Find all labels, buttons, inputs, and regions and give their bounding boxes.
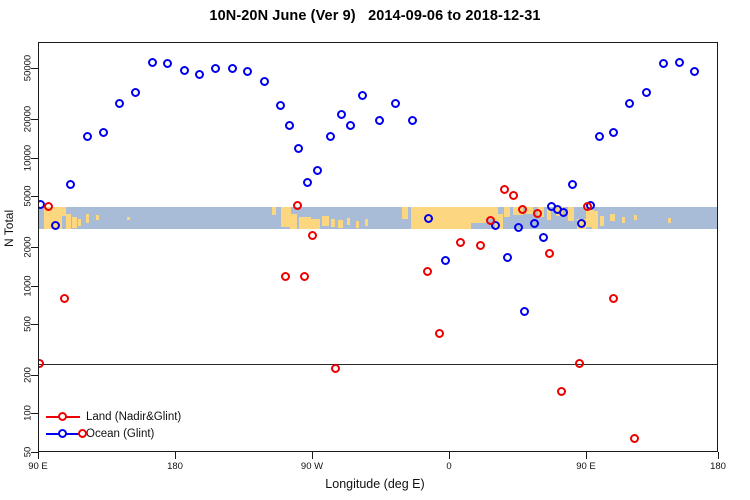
reference-line [39, 364, 718, 365]
y-tick-label: 100 [23, 406, 34, 422]
data-point [500, 185, 509, 194]
landmass-shape [402, 207, 408, 219]
landmass-shape [96, 215, 99, 221]
data-point [559, 208, 568, 217]
landmass-shape [311, 219, 320, 229]
x-tick [718, 452, 719, 459]
x-tick-label: 0 [446, 461, 451, 472]
data-point [38, 359, 44, 368]
landmass-shape [365, 219, 368, 226]
data-point [326, 132, 335, 141]
page-title: 10N-20N June (Ver 9) 2014-09-06 to 2018-… [0, 8, 750, 24]
data-point [595, 132, 604, 141]
x-tick [38, 452, 39, 459]
y-tick-label: 10000 [23, 144, 34, 170]
landmass-shape [272, 207, 277, 215]
plot-area [38, 42, 718, 452]
ocean-marker-icon [46, 428, 80, 440]
data-point [509, 191, 518, 200]
data-point [313, 166, 322, 175]
data-point [675, 58, 684, 67]
landmass-shape [610, 214, 615, 222]
y-tick-label: 500 [23, 316, 34, 332]
landmass-shape [592, 211, 598, 229]
scatter-chart-figure: 10N-20N June (Ver 9) 2014-09-06 to 2018-… [0, 0, 750, 500]
x-tick [449, 452, 450, 459]
data-point [375, 116, 384, 125]
landmass-shape [447, 207, 471, 230]
x-tick-label: 90 E [28, 461, 48, 472]
x-tick-label: 180 [710, 461, 726, 472]
data-point [285, 121, 294, 130]
data-point [609, 128, 618, 137]
x-tick-label: 90 E [576, 461, 596, 472]
stray-land-marker [78, 429, 87, 438]
y-tick-label: 50000 [23, 55, 34, 81]
data-point [441, 256, 450, 265]
x-tick [175, 452, 176, 459]
data-point [539, 233, 548, 242]
data-point [503, 253, 512, 262]
data-point [131, 88, 140, 97]
data-point [243, 67, 252, 76]
data-point [83, 132, 92, 141]
x-axis-title: Longitude (deg E) [0, 477, 750, 491]
y-tick-label: 50 [23, 447, 34, 458]
chart-legend: Land (Nadir&Glint) Ocean (Glint) [46, 408, 181, 442]
data-point [303, 178, 312, 187]
data-point [456, 238, 465, 247]
data-point [435, 329, 444, 338]
data-point [211, 64, 220, 73]
landmass-shape [568, 207, 574, 222]
x-tick [312, 452, 313, 459]
landmass-shape [322, 216, 330, 226]
data-point [294, 144, 303, 153]
y-tick-label: 5000 [23, 186, 34, 207]
data-point [99, 128, 108, 137]
data-point [391, 99, 400, 108]
data-point [568, 180, 577, 189]
legend-item-ocean: Ocean (Glint) [46, 425, 181, 442]
landmass-shape [290, 214, 298, 230]
y-tick-label: 200 [23, 367, 34, 383]
data-point [609, 294, 618, 303]
landmass-shape [347, 218, 350, 225]
data-point [148, 58, 157, 67]
land-marker-icon [46, 411, 80, 423]
landmass-shape [504, 207, 510, 217]
data-point [423, 267, 432, 276]
landmass-shape [72, 217, 77, 228]
data-point [476, 241, 485, 250]
data-point [195, 70, 204, 79]
landmass-shape [668, 218, 671, 223]
data-point [545, 249, 554, 258]
y-axis-title: N Total [2, 210, 16, 247]
landmass-shape [86, 214, 89, 223]
x-tick-label: 180 [167, 461, 183, 472]
landmass-shape [471, 207, 486, 223]
data-point [642, 88, 651, 97]
landmass-shape [299, 217, 311, 229]
legend-item-land: Land (Nadir&Glint) [46, 408, 181, 425]
legend-label-ocean: Ocean (Glint) [86, 428, 154, 440]
landmass-shape [356, 221, 359, 228]
landmass-shape [634, 215, 637, 221]
x-tick-label: 90 W [301, 461, 323, 472]
landmass-shape [127, 217, 130, 220]
data-point [163, 59, 172, 68]
data-point [520, 307, 529, 316]
data-point [690, 67, 699, 76]
x-tick [586, 452, 587, 459]
landmass-shape [53, 209, 61, 219]
landmass-shape [66, 214, 71, 230]
world-map-band [39, 207, 718, 230]
y-tick-label: 1000 [23, 275, 34, 296]
data-point [293, 201, 302, 210]
landmass-shape [600, 216, 605, 226]
data-point [60, 294, 69, 303]
data-point [276, 101, 285, 110]
landmass-shape [78, 219, 81, 226]
data-point [66, 180, 75, 189]
data-point [486, 216, 495, 225]
landmass-shape [338, 220, 343, 228]
data-point [625, 99, 634, 108]
data-point [51, 221, 60, 230]
data-point [44, 202, 53, 211]
data-point [180, 66, 189, 75]
y-tick-label: 2000 [23, 236, 34, 257]
data-point [514, 223, 523, 232]
legend-label-land: Land (Nadir&Glint) [86, 411, 181, 423]
data-point [337, 110, 346, 119]
data-point [557, 387, 566, 396]
data-point [331, 364, 340, 373]
y-tick-label: 20000 [23, 106, 34, 132]
data-point [228, 64, 237, 73]
landmass-shape [622, 217, 625, 223]
data-point [300, 272, 309, 281]
data-point [408, 116, 417, 125]
data-point [346, 121, 355, 130]
data-point [575, 359, 584, 368]
data-point [281, 272, 290, 281]
data-point [518, 205, 527, 214]
data-point [115, 99, 124, 108]
data-point [260, 77, 269, 86]
data-point [308, 231, 317, 240]
data-point [358, 91, 367, 100]
data-point [630, 434, 639, 443]
landmass-shape [331, 219, 336, 227]
data-point [659, 59, 668, 68]
